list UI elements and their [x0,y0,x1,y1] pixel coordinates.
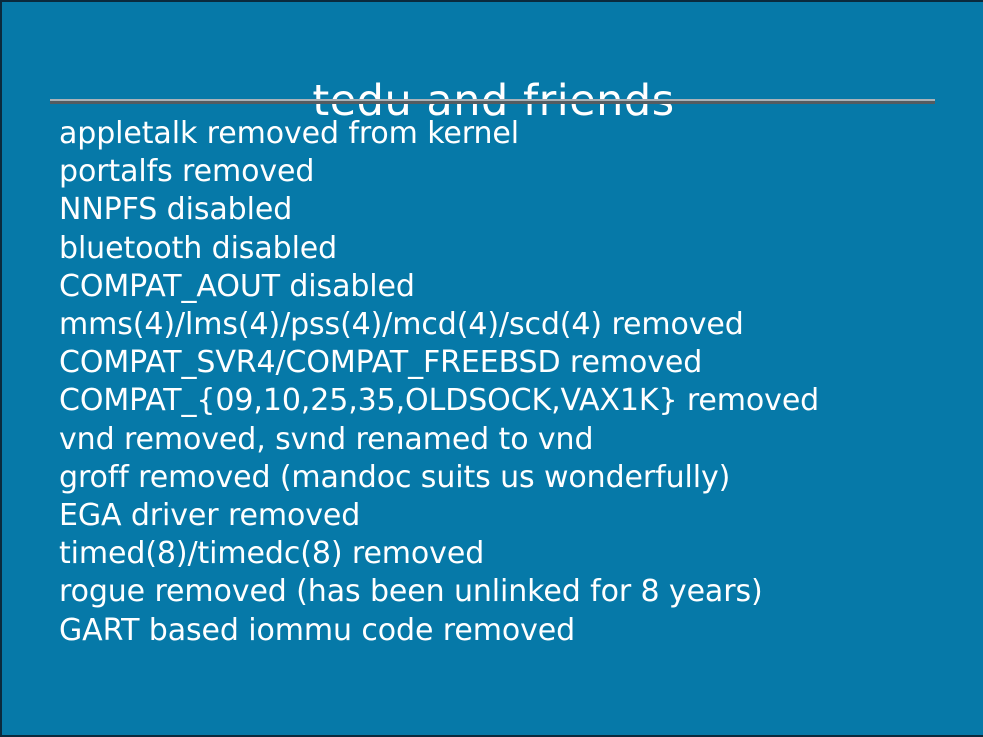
list-item: appletalk removed from kernel [59,115,959,153]
list-item: COMPAT_{09,10,25,35,OLDSOCK,VAX1K} remov… [59,382,959,420]
list-item: COMPAT_SVR4/COMPAT_FREEBSD removed [59,344,959,382]
list-item: mms(4)/lms(4)/pss(4)/mcd(4)/scd(4) remov… [59,306,959,344]
title-divider [50,99,935,104]
list-item: bluetooth disabled [59,230,959,268]
list-item: vnd removed, svnd renamed to vnd [59,421,959,459]
list-item: groff removed (mandoc suits us wonderful… [59,459,959,497]
list-item: rogue removed (has been unlinked for 8 y… [59,573,959,611]
title-divider-shadow [50,101,935,104]
slide-bullet-list: appletalk removed from kernelportalfs re… [59,115,959,650]
list-item: EGA driver removed [59,497,959,535]
presentation-slide: tedu and friends appletalk removed from … [0,0,983,737]
list-item: portalfs removed [59,153,959,191]
list-item: NNPFS disabled [59,191,959,229]
list-item: GART based iommu code removed [59,612,959,650]
list-item: COMPAT_AOUT disabled [59,268,959,306]
list-item: timed(8)/timedc(8) removed [59,535,959,573]
